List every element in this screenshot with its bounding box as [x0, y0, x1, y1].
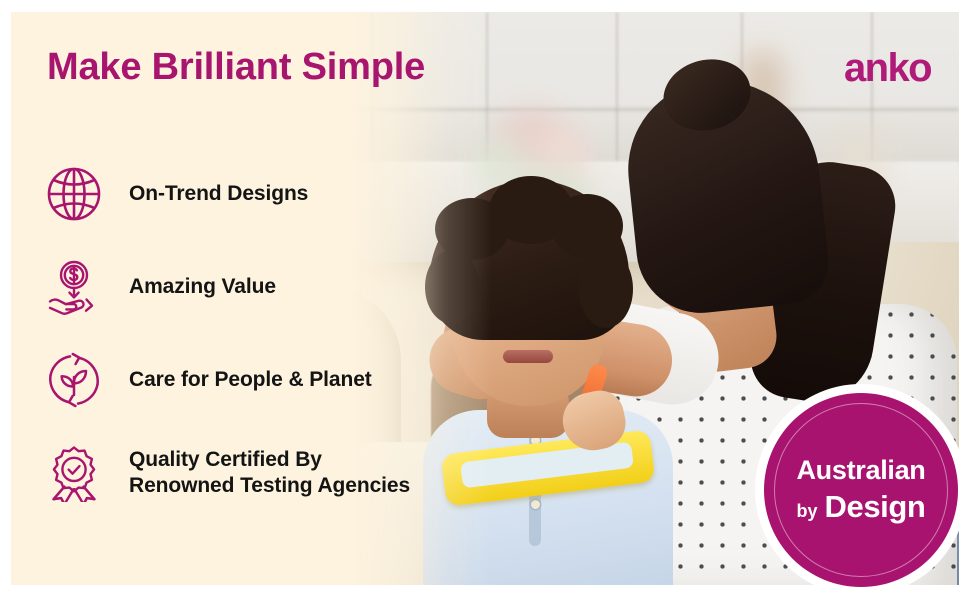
anko-brand-banner: Make Brilliant Simple anko On-Tren [0, 0, 970, 600]
award-check-icon [41, 440, 107, 506]
feature-label: Care for People & Planet [129, 367, 372, 393]
australian-by-design-badge: Australian by Design [755, 384, 970, 586]
feature-item-amazing-value: Amazing Value [41, 240, 471, 333]
anko-logo: anko [844, 48, 931, 88]
feature-item-quality-certified: Quality Certified By Renowned Testing Ag… [41, 426, 471, 519]
boy-hair-sideburn [579, 250, 633, 328]
badge-word-by: by [797, 502, 818, 522]
cabinet-seam [616, 12, 618, 162]
feature-item-care-for-people-and-planet: Care for People & Planet [41, 333, 471, 426]
boy-shirt-button [531, 500, 540, 509]
feature-label: On-Trend Designs [129, 181, 308, 207]
boy-hair-tuft [551, 194, 623, 258]
badge-line-australian: Australian [796, 456, 925, 486]
badge-text: Australian by Design [764, 393, 958, 587]
page-title: Make Brilliant Simple [47, 46, 425, 89]
feature-label: Amazing Value [129, 274, 276, 300]
feature-label-line1: On-Trend Designs [129, 182, 308, 205]
feature-label-line1: Care for People & Planet [129, 368, 372, 391]
recycle-leaf-icon [41, 347, 107, 413]
cabinet-shelf-line [311, 108, 959, 111]
feature-label-line1: Quality Certified By [129, 448, 322, 471]
feature-label-line1: Amazing Value [129, 275, 276, 298]
feature-label-line2: Renowned Testing Agencies [129, 473, 410, 499]
feature-item-on-trend-designs: On-Trend Designs [41, 147, 471, 240]
badge-line-by-design: by Design [797, 490, 926, 524]
feature-label: Quality Certified By Renowned Testing Ag… [129, 447, 410, 498]
globe-icon [41, 161, 107, 227]
boy-mouth [503, 350, 553, 363]
hand-coin-icon [41, 254, 107, 320]
feature-list: On-Trend Designs [41, 147, 471, 519]
badge-word-design: Design [825, 490, 926, 524]
